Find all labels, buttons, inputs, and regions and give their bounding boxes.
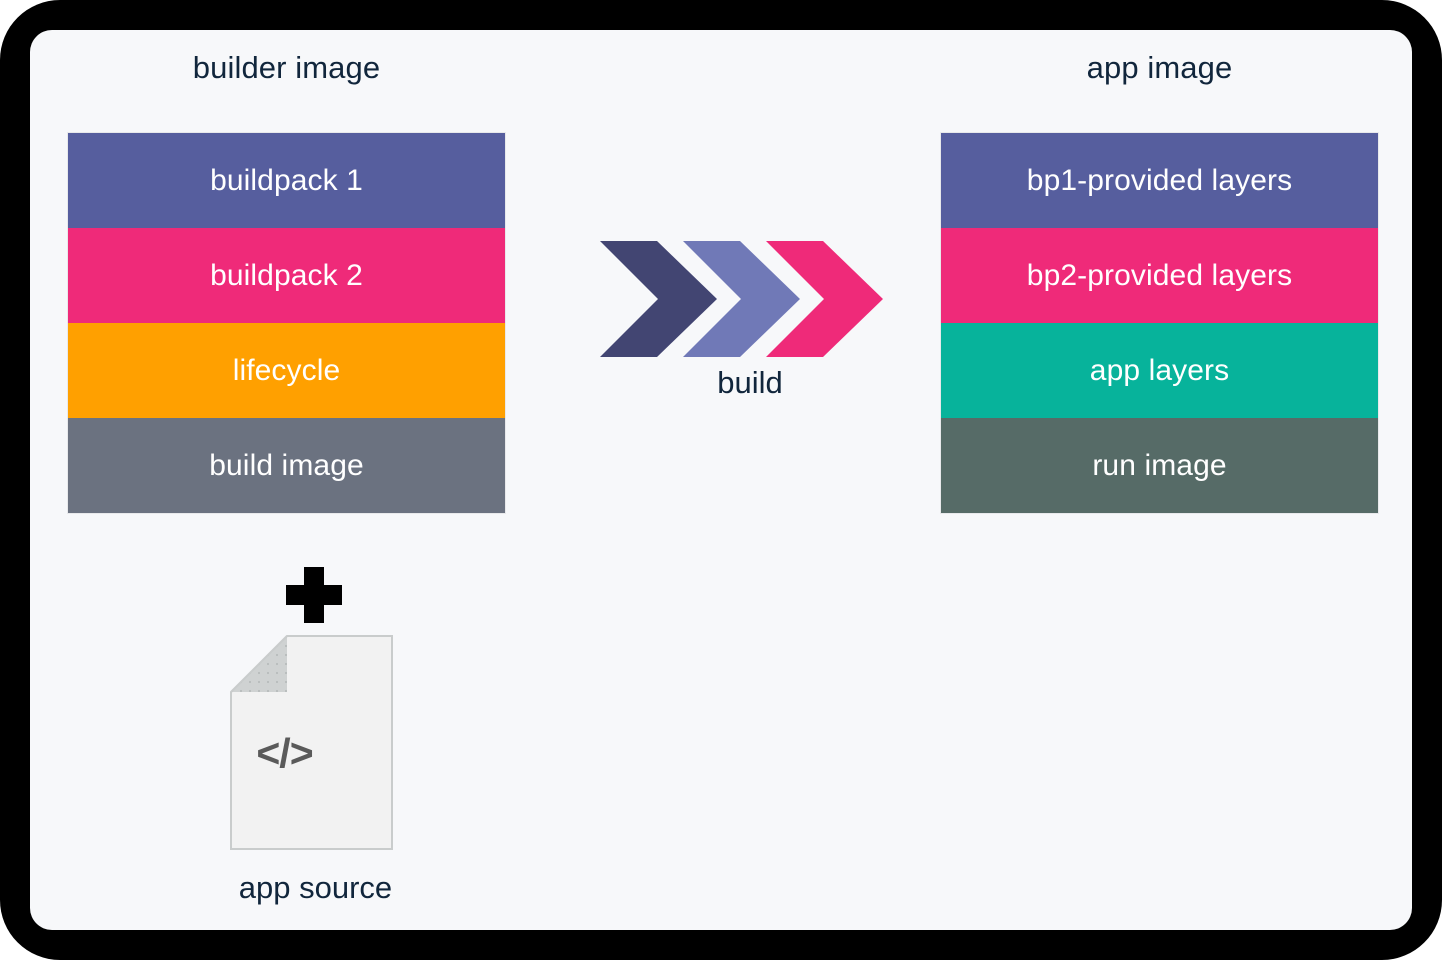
layer-label: app layers <box>1090 354 1229 388</box>
plus-vertical-bar <box>304 567 324 623</box>
diagram-card: builder image buildpack 1 buildpack 2 li… <box>30 30 1412 930</box>
app-source-group: </> app source <box>203 635 428 925</box>
layer-run-image: run image <box>941 418 1378 513</box>
layer-bp1-provided: bp1-provided layers <box>941 133 1378 228</box>
layer-label: run image <box>1092 449 1226 483</box>
layer-build-image: build image <box>68 418 505 513</box>
build-label: build <box>600 365 900 401</box>
layer-bp2-provided: bp2-provided layers <box>941 228 1378 323</box>
layer-label: buildpack 2 <box>210 259 363 293</box>
outer-frame: builder image buildpack 1 buildpack 2 li… <box>0 0 1442 960</box>
plus-icon <box>286 567 342 623</box>
code-glyph: </> <box>203 730 366 777</box>
chevron-arrows-icon <box>600 240 900 360</box>
build-arrow-group: build <box>600 240 900 410</box>
builder-image-stack: buildpack 1 buildpack 2 lifecycle build … <box>68 133 505 513</box>
layer-label: bp1-provided layers <box>1027 164 1292 198</box>
app-image-title: app image <box>941 50 1378 86</box>
builder-image-title: builder image <box>68 50 505 86</box>
layer-buildpack-2: buildpack 2 <box>68 228 505 323</box>
layer-buildpack-1: buildpack 1 <box>68 133 505 228</box>
app-source-label: app source <box>203 870 428 906</box>
layer-label: lifecycle <box>233 354 341 388</box>
layer-label: build image <box>209 449 364 483</box>
app-image-stack: bp1-provided layers bp2-provided layers … <box>941 133 1378 513</box>
layer-app-layers: app layers <box>941 323 1378 418</box>
layer-label: bp2-provided layers <box>1027 259 1292 293</box>
layer-label: buildpack 1 <box>210 164 363 198</box>
layer-lifecycle: lifecycle <box>68 323 505 418</box>
